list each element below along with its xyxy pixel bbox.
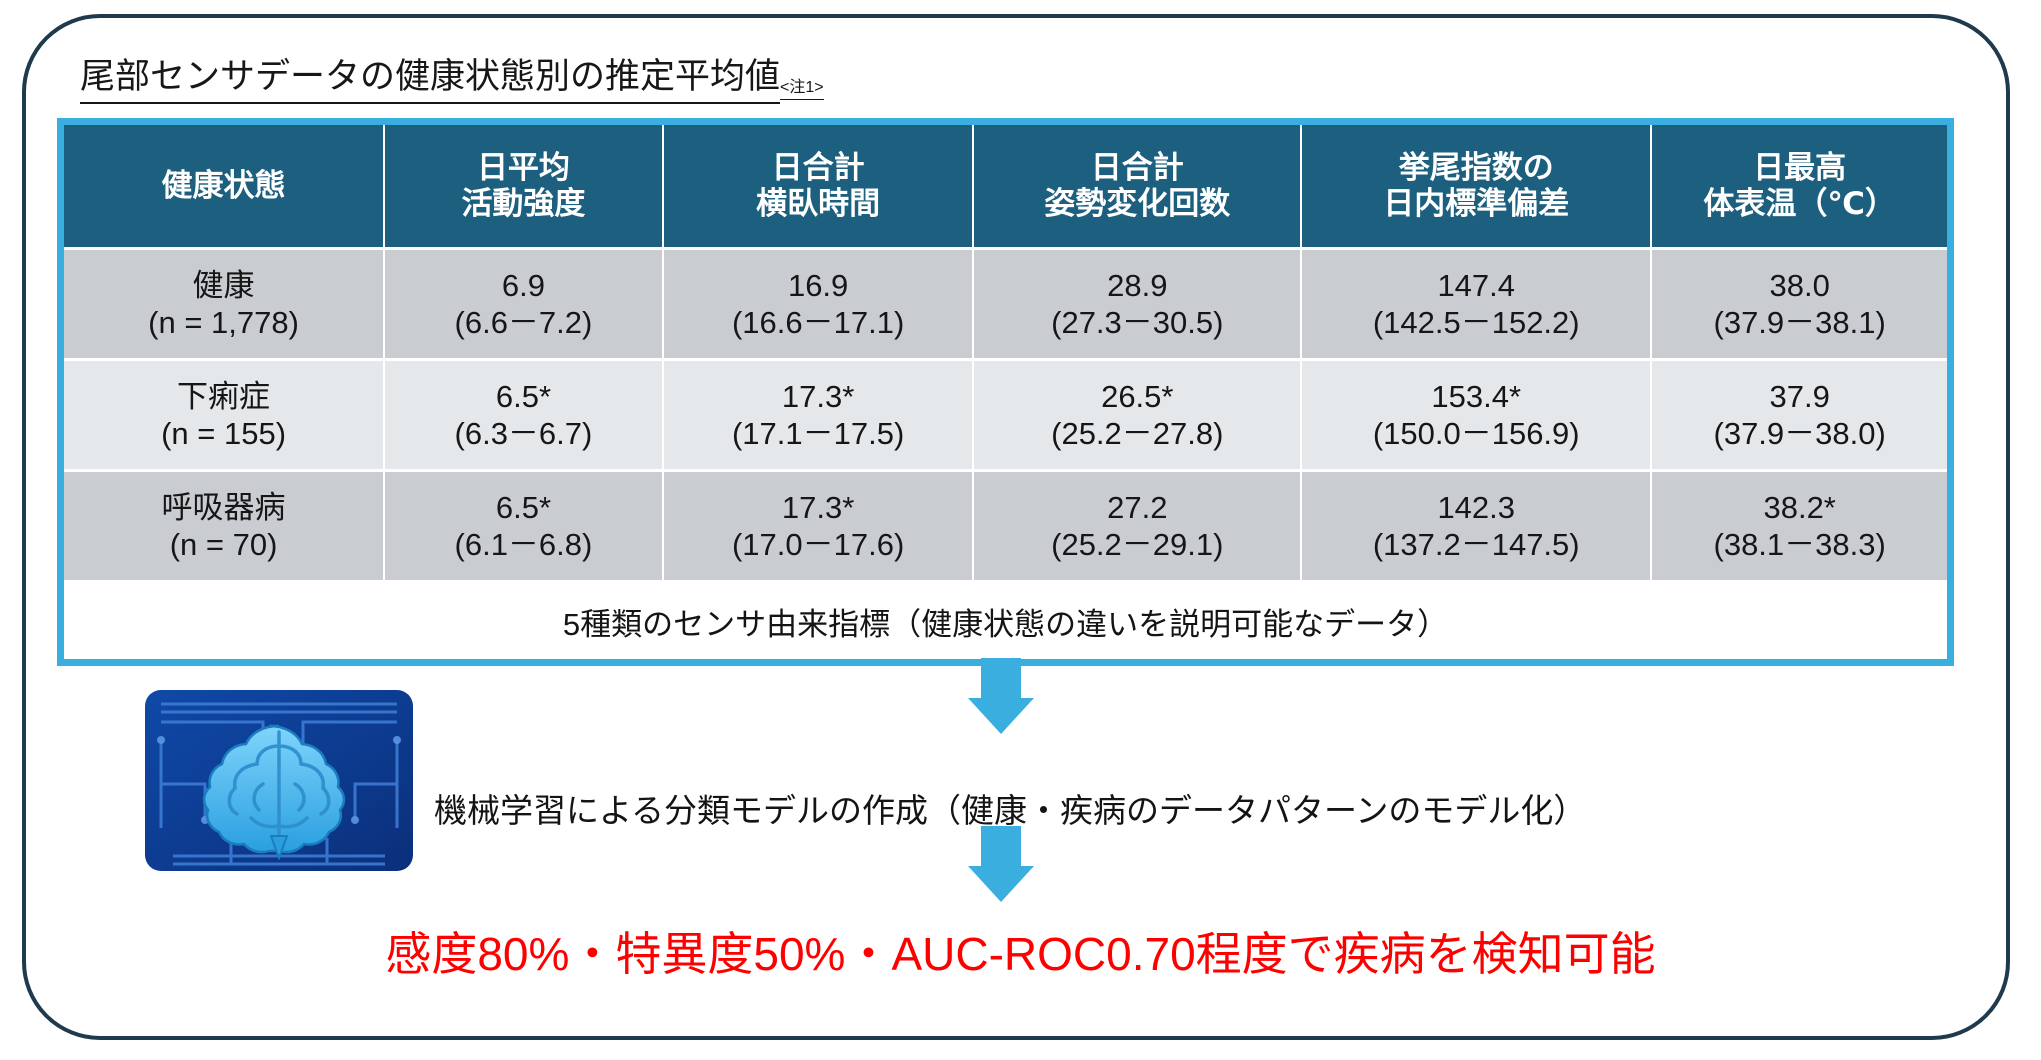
group-label: 呼吸器病 <box>162 490 286 525</box>
table-cell: 27.2 (25.2－29.1) <box>973 471 1301 582</box>
cell-confidence-interval: (25.2－29.1) <box>974 526 1300 563</box>
cell-confidence-interval: (6.1－6.8) <box>385 526 662 563</box>
cell-confidence-interval: (6.6－7.2) <box>385 304 662 341</box>
group-label: 健康 <box>193 268 255 303</box>
table-footer-row: 5種類のセンサ由来指標（健康状態の違いを説明可能なデータ） <box>64 582 1947 660</box>
cell-value: 147.4 <box>1437 268 1515 303</box>
summary-table: 健康状態 日平均 活動強度 日合計 横臥時間 日合計 姿勢変化回数 <box>64 125 1947 659</box>
title-footnote-marker: <注1> <box>780 73 824 100</box>
column-header-line2: 姿勢変化回数 <box>974 186 1300 222</box>
column-header-line1: 日平均 <box>477 150 570 185</box>
cell-value: 16.9 <box>788 268 848 303</box>
table-cell: 38.2* (38.1－38.3) <box>1651 471 1947 582</box>
cell-confidence-interval: (150.0－156.9) <box>1302 415 1650 452</box>
summary-table-container: 健康状態 日平均 活動強度 日合計 横臥時間 日合計 姿勢変化回数 <box>57 118 1954 666</box>
table-row: 呼吸器病 (n = 70) 6.5* (6.1－6.8) 17.3* (17.0… <box>64 471 1947 582</box>
cell-value: 6.5* <box>496 490 551 525</box>
cell-value: 37.9 <box>1770 379 1830 414</box>
cell-value: 27.2 <box>1107 490 1167 525</box>
figure-canvas: 尾部センサデータの健康状態別の推定平均値 <注1> 健康状態 日平均 活動強度 <box>0 0 2041 1060</box>
page-title: 尾部センサデータの健康状態別の推定平均値 <box>80 48 780 104</box>
cell-confidence-interval: (25.2－27.8) <box>974 415 1300 452</box>
figure-title-block: 尾部センサデータの健康状態別の推定平均値 <注1> <box>80 48 824 104</box>
table-cell: 16.9 (16.6－17.1) <box>663 249 974 360</box>
column-header-health-status: 健康状態 <box>64 125 384 249</box>
table-cell: 142.3 (137.2－147.5) <box>1301 471 1651 582</box>
column-header-line2: 活動強度 <box>385 186 662 222</box>
ai-brain-circuit-icon <box>143 688 415 873</box>
row-group-label-cell: 健康 (n = 1,778) <box>64 249 384 360</box>
cell-value: 142.3 <box>1437 490 1515 525</box>
table-row: 下痢症 (n = 155) 6.5* (6.3－6.7) 17.3* (17.1… <box>64 360 1947 471</box>
column-header-line1: 健康状態 <box>162 168 286 203</box>
cell-value: 38.0 <box>1770 268 1830 303</box>
cell-confidence-interval: (37.9－38.0) <box>1652 415 1947 452</box>
cell-confidence-interval: (37.9－38.1) <box>1652 304 1947 341</box>
cell-confidence-interval: (16.6－17.1) <box>664 304 973 341</box>
table-cell: 153.4* (150.0－156.9) <box>1301 360 1651 471</box>
table-cell: 6.5* (6.1－6.8) <box>384 471 663 582</box>
table-body: 健康 (n = 1,778) 6.9 (6.6－7.2) 16.9 (16.6－… <box>64 249 1947 582</box>
column-header-line1: 日合計 <box>1091 150 1184 185</box>
table-footer-note: 5種類のセンサ由来指標（健康状態の違いを説明可能なデータ） <box>64 582 1947 660</box>
column-header-daily-total-lying-time: 日合計 横臥時間 <box>663 125 974 249</box>
column-header-line1: 日最高 <box>1753 150 1846 185</box>
group-sample-size: (n = 70) <box>64 526 383 563</box>
column-header-line2: 体表温（℃） <box>1652 186 1947 222</box>
table-cell: 38.0 (37.9－38.1) <box>1651 249 1947 360</box>
cell-value: 17.3* <box>782 379 854 414</box>
group-sample-size: (n = 1,778) <box>64 304 383 341</box>
cell-confidence-interval: (27.3－30.5) <box>974 304 1300 341</box>
table-cell: 147.4 (142.5－152.2) <box>1301 249 1651 360</box>
column-header-daily-max-body-surface-temp: 日最高 体表温（℃） <box>1651 125 1947 249</box>
cell-value: 28.9 <box>1107 268 1167 303</box>
cell-value: 26.5* <box>1101 379 1173 414</box>
cell-confidence-interval: (6.3－6.7) <box>385 415 662 452</box>
column-header-line1: 挙尾指数の <box>1399 150 1554 185</box>
column-header-daily-mean-activity: 日平均 活動強度 <box>384 125 663 249</box>
table-row: 健康 (n = 1,778) 6.9 (6.6－7.2) 16.9 (16.6－… <box>64 249 1947 360</box>
table-cell: 37.9 (37.9－38.0) <box>1651 360 1947 471</box>
table-cell: 17.3* (17.1－17.5) <box>663 360 974 471</box>
cell-value: 6.5* <box>496 379 551 414</box>
cell-value: 153.4* <box>1431 379 1521 414</box>
row-group-label-cell: 呼吸器病 (n = 70) <box>64 471 384 582</box>
table-header: 健康状態 日平均 活動強度 日合計 横臥時間 日合計 姿勢変化回数 <box>64 125 1947 249</box>
cell-confidence-interval: (38.1－38.3) <box>1652 526 1947 563</box>
column-header-line1: 日合計 <box>772 150 865 185</box>
column-header-line2: 横臥時間 <box>664 186 973 222</box>
column-header-tail-index-sd: 挙尾指数の 日内標準偏差 <box>1301 125 1651 249</box>
table-header-row: 健康状態 日平均 活動強度 日合計 横臥時間 日合計 姿勢変化回数 <box>64 125 1947 249</box>
cell-confidence-interval: (142.5－152.2) <box>1302 304 1650 341</box>
cell-value: 6.9 <box>502 268 545 303</box>
group-label: 下痢症 <box>177 379 270 414</box>
group-sample-size: (n = 155) <box>64 415 383 452</box>
cell-confidence-interval: (137.2－147.5) <box>1302 526 1650 563</box>
row-group-label-cell: 下痢症 (n = 155) <box>64 360 384 471</box>
conclusion-text: 感度80%・特異度50%・AUC-ROC0.70程度で疾病を検知可能 <box>0 918 2041 984</box>
table-footer: 5種類のセンサ由来指標（健康状態の違いを説明可能なデータ） <box>64 582 1947 660</box>
cell-confidence-interval: (17.1－17.5) <box>664 415 973 452</box>
table-cell: 26.5* (25.2－27.8) <box>973 360 1301 471</box>
column-header-daily-total-posture-changes: 日合計 姿勢変化回数 <box>973 125 1301 249</box>
table-cell: 17.3* (17.0－17.6) <box>663 471 974 582</box>
table-cell: 6.9 (6.6－7.2) <box>384 249 663 360</box>
cell-value: 17.3* <box>782 490 854 525</box>
cell-value: 38.2* <box>1763 490 1835 525</box>
table-cell: 28.9 (27.3－30.5) <box>973 249 1301 360</box>
table-cell: 6.5* (6.3－6.7) <box>384 360 663 471</box>
flow-step-caption: 機械学習による分類モデルの作成（健康・疾病のデータパターンのモデル化） <box>434 784 1586 832</box>
cell-confidence-interval: (17.0－17.6) <box>664 526 973 563</box>
column-header-line2: 日内標準偏差 <box>1302 186 1650 222</box>
